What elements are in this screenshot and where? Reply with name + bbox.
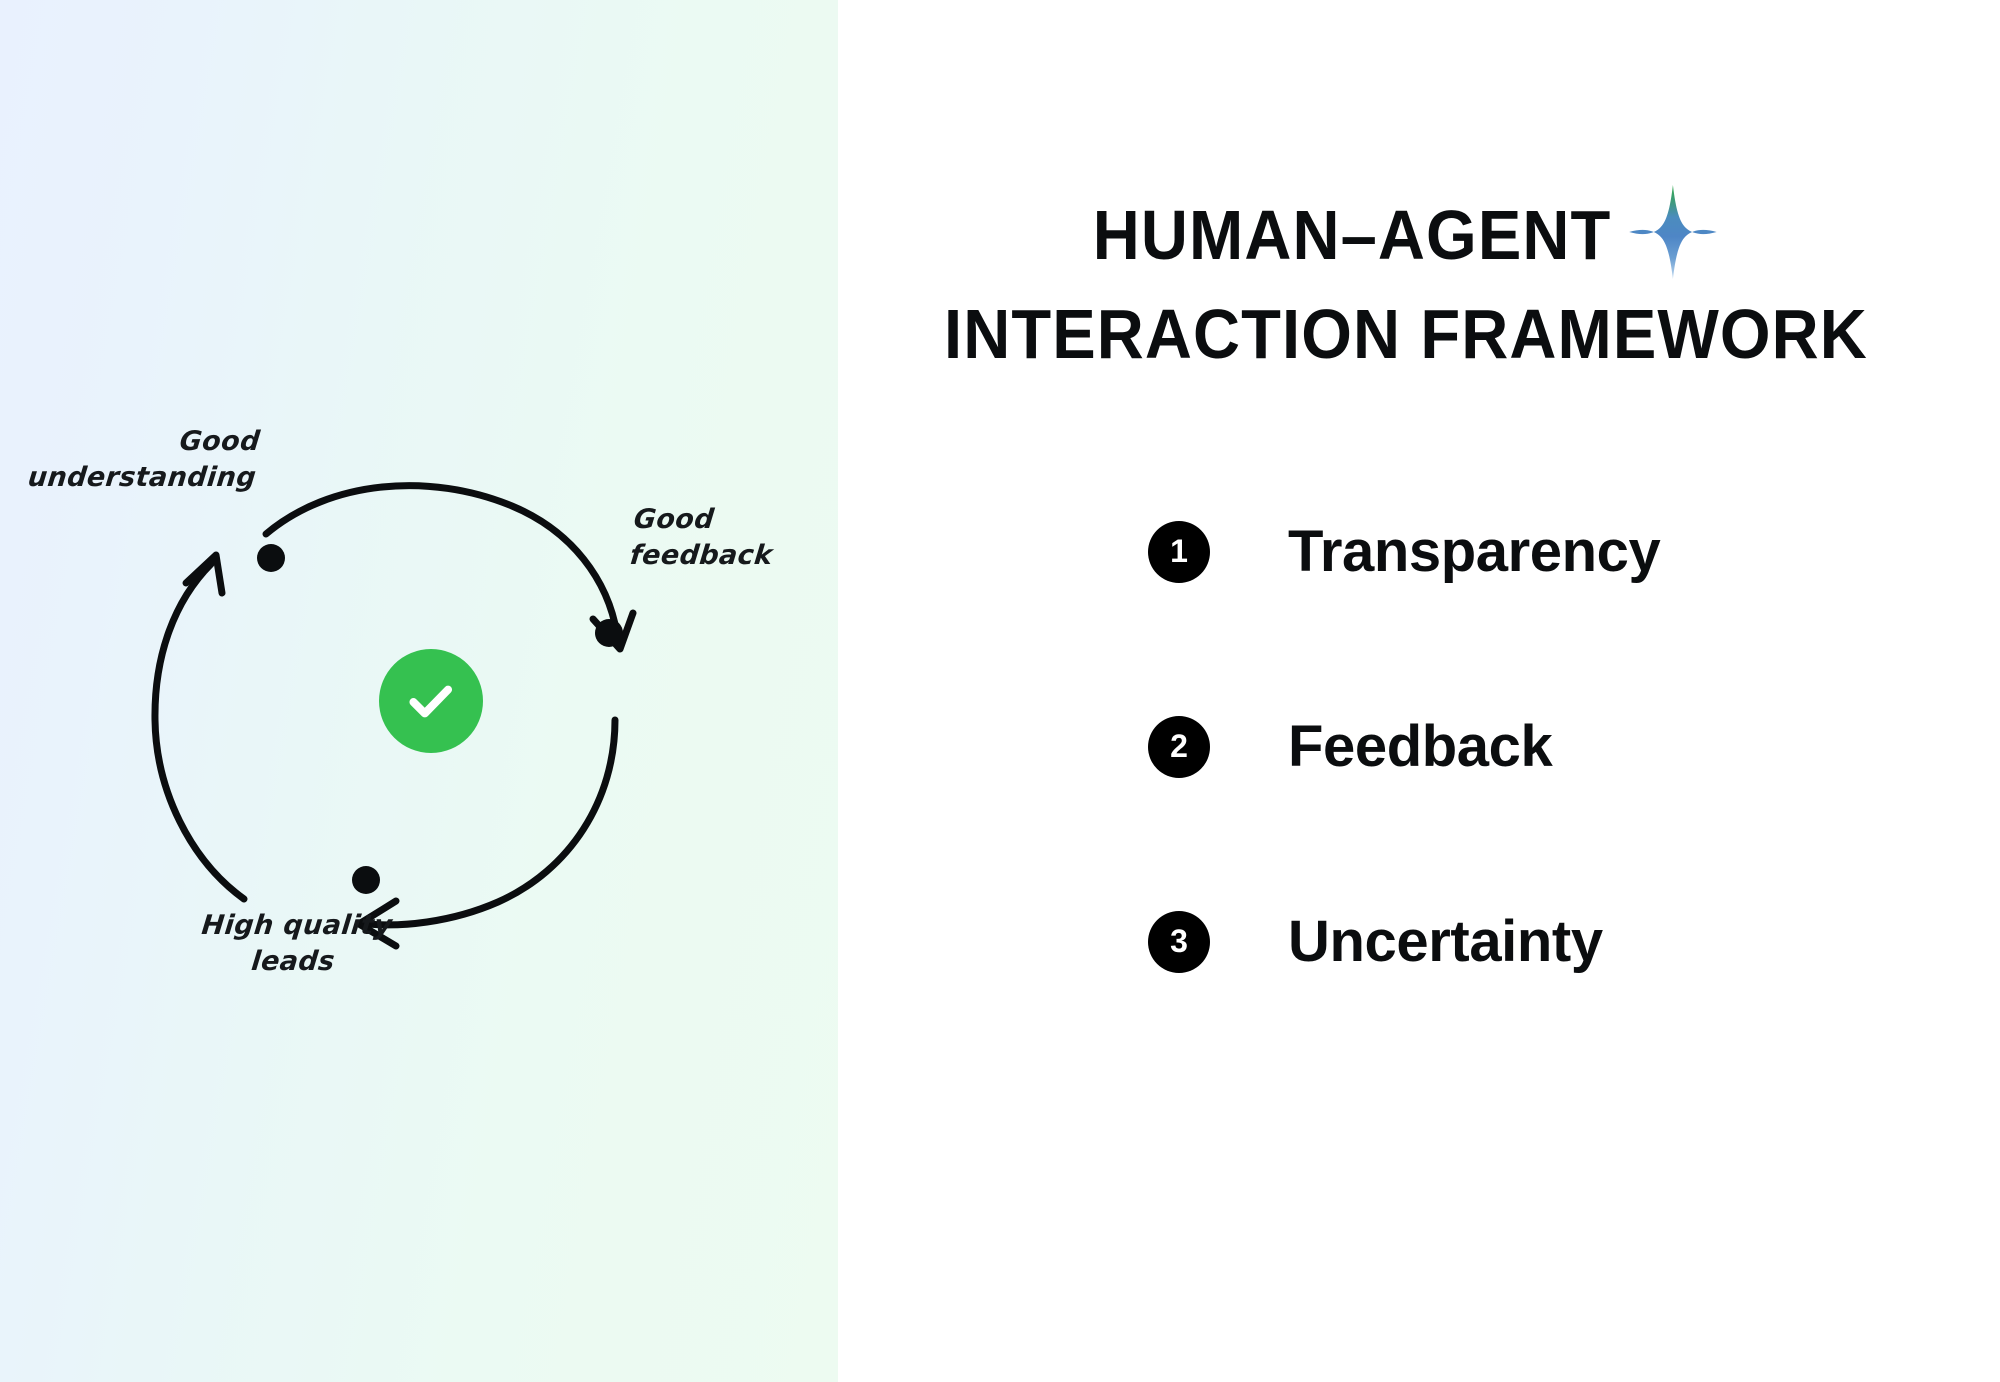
page-title: HUMAN–AGENT (838, 182, 2000, 380)
title-line-2-row: INTERACTION FRAMEWORK (896, 288, 1915, 380)
point-number-badge-3: 3 (1148, 911, 1210, 973)
sparkle-star-icon (1626, 182, 1719, 282)
node-dot-feedback (595, 619, 623, 647)
list-item[interactable]: 3 Uncertainty (1148, 910, 1660, 974)
node-label-leads: High quality leads (186, 908, 404, 980)
virtuous-cycle-diagram: Good understanding Good feedback High qu… (0, 430, 838, 1000)
arrow-leads-to-understanding (155, 555, 244, 899)
node-dot-leads (352, 866, 380, 894)
title-line-1: HUMAN–AGENT (1093, 189, 1612, 281)
diagram-panel: Good understanding Good feedback High qu… (0, 0, 838, 1382)
green-check-circle-icon (379, 649, 483, 753)
node-dot-understanding (257, 544, 285, 572)
arrow-understanding-to-feedback (266, 486, 633, 649)
title-line-1-row: HUMAN–AGENT (896, 182, 1915, 288)
slide-root: Good understanding Good feedback High qu… (0, 0, 2000, 1382)
title-line-2: INTERACTION FRAMEWORK (944, 288, 1868, 380)
point-label-transparency: Transparency (1288, 520, 1660, 584)
framework-points-list: 1 Transparency 2 Feedback 3 Uncertainty (1148, 520, 1660, 974)
point-label-uncertainty: Uncertainty (1288, 910, 1603, 974)
point-label-feedback: Feedback (1288, 715, 1552, 779)
list-item[interactable]: 2 Feedback (1148, 715, 1660, 779)
list-item[interactable]: 1 Transparency (1148, 520, 1660, 584)
point-number-badge-2: 2 (1148, 716, 1210, 778)
point-number-badge-1: 1 (1148, 521, 1210, 583)
node-label-feedback: Good feedback (628, 502, 836, 574)
content-panel: HUMAN–AGENT (838, 0, 2000, 1382)
node-label-understanding: Good understanding (4, 424, 262, 496)
